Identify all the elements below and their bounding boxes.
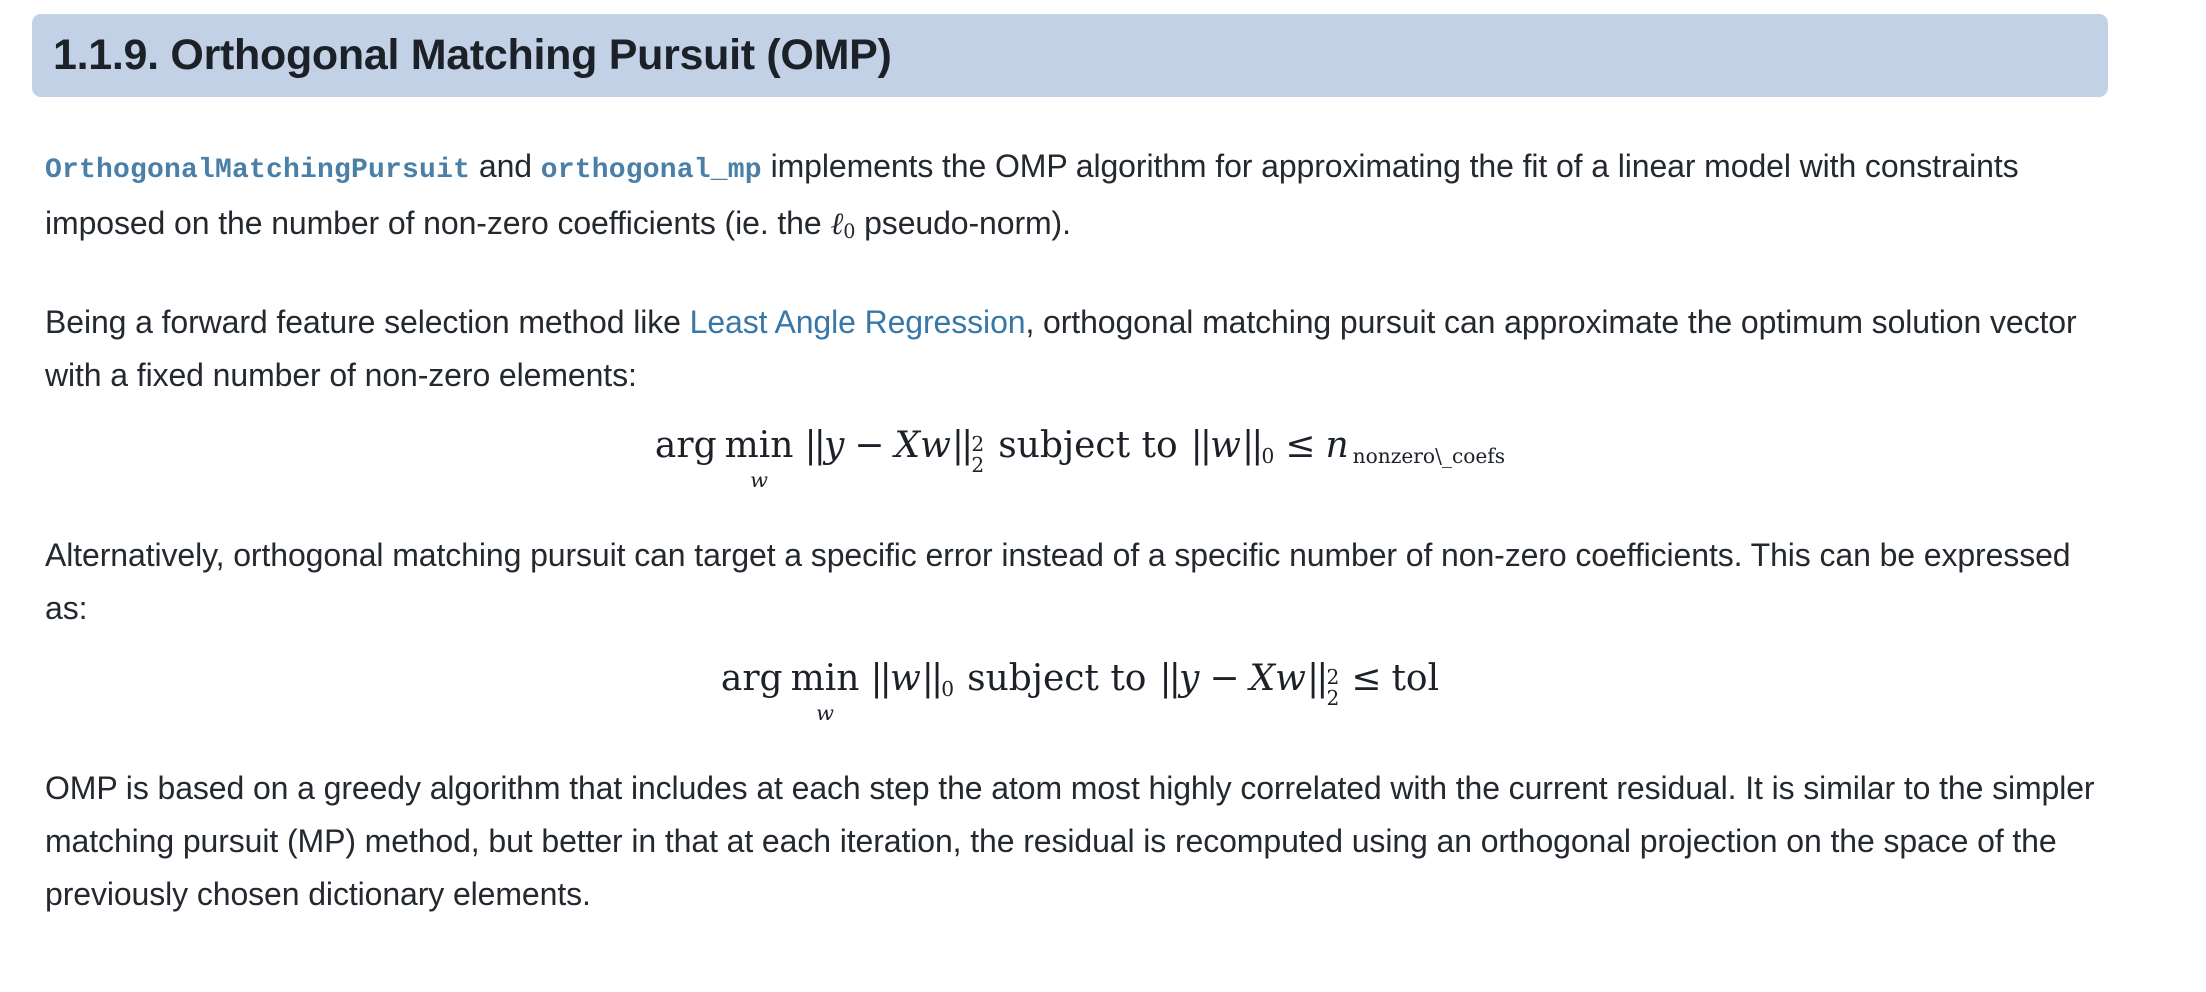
paragraph-text-fragment: pseudo-norm). (855, 205, 1071, 241)
page-title: 1.1.9. Orthogonal Matching Pursuit (OMP) (53, 34, 892, 77)
paragraph-text-fragment: Being a forward feature selection method… (45, 304, 690, 340)
api-ref-orthogonal-mp[interactable]: orthogonal_mp (541, 155, 762, 186)
paragraph-target-error: Alternatively, orthogonal matching pursu… (45, 529, 2115, 635)
argmin-limit-variable: w (750, 470, 768, 491)
norm-index: 0 (941, 679, 954, 699)
api-ref-orthogonalmatchingpursuit[interactable]: OrthogonalMatchingPursuit (45, 155, 470, 186)
variable-y: y (824, 428, 844, 464)
paragraph-text-fragment: and (470, 148, 541, 184)
prose-body: OrthogonalMatchingPursuit and orthogonal… (45, 140, 2115, 959)
subject-to-text: subject to (967, 661, 1146, 697)
objective-variable-w: w (890, 661, 921, 697)
constraint-norm-open-bars: || (1158, 661, 1179, 697)
constraint-norm-exponent-and-index: 22 (1326, 667, 1339, 708)
bound-tol: tol (1391, 661, 1439, 697)
bound-symbol-n: n (1325, 428, 1348, 464)
paragraph-forward-selection: Being a forward feature selection method… (45, 296, 2115, 402)
argmin-arg-label: arg (721, 661, 783, 697)
ell-symbol: ℓ (830, 206, 843, 242)
section-heading-highlight: 1.1.9. Orthogonal Matching Pursuit (OMP) (32, 14, 2108, 97)
variable-Xw: Xw (894, 428, 950, 464)
norm-exponent-and-index: 22 (971, 434, 984, 475)
constraint-norm-close-bars: || (1306, 661, 1327, 697)
subject-to-text: subject to (998, 428, 1177, 464)
equation-argmin-tol: arg min w ||w||0subject to||y−Xw||22≤tol (45, 661, 2115, 724)
constraint-norm-close-bars: || (1241, 428, 1262, 464)
relation-leq: ≤ (1351, 661, 1381, 697)
argmin-limit-variable: w (816, 703, 834, 724)
constraint-variable-w: w (1210, 428, 1241, 464)
norm-exponent: 2 (971, 434, 984, 455)
norm-index: 2 (971, 455, 984, 476)
constraint-norm-exponent: 2 (1326, 667, 1339, 688)
documentation-page: 1.1.9. Orthogonal Matching Pursuit (OMP)… (0, 0, 2206, 992)
bound-subscript-nonzero-coefs: nonzero\_coefs (1353, 446, 1505, 466)
operator-argmin: arg min w (721, 661, 860, 724)
constraint-variable-y: y (1179, 661, 1199, 697)
minus-operator: − (854, 428, 884, 464)
constraint-norm-index: 2 (1326, 688, 1339, 709)
norm-open-bars: || (803, 428, 824, 464)
norm-close-bars: || (921, 661, 942, 697)
inline-math-ell-zero: ℓ0 (830, 206, 855, 242)
constraint-variable-Xw: Xw (1250, 661, 1306, 697)
minus-operator: − (1209, 661, 1239, 697)
argmin-min-label: min (791, 661, 860, 697)
equation-argmin-nonzero-coefs: arg min w ||y−Xw||22subject to||w||0≤nno… (45, 428, 2115, 491)
norm-close-bars: || (951, 428, 972, 464)
constraint-norm-index: 0 (1261, 446, 1274, 466)
constraint-norm-open-bars: || (1190, 428, 1211, 464)
norm-open-bars: || (869, 661, 890, 697)
argmin-arg-label: arg (655, 428, 717, 464)
paragraph-greedy-algorithm: OMP is based on a greedy algorithm that … (45, 762, 2115, 921)
operator-argmin: arg min w (655, 428, 794, 491)
ell-subscript: 0 (843, 220, 855, 243)
relation-leq: ≤ (1285, 428, 1315, 464)
paragraph-omp-intro: OrthogonalMatchingPursuit and orthogonal… (45, 140, 2115, 258)
argmin-min-label: min (725, 428, 794, 464)
link-least-angle-regression[interactable]: Least Angle Regression (690, 304, 1026, 340)
